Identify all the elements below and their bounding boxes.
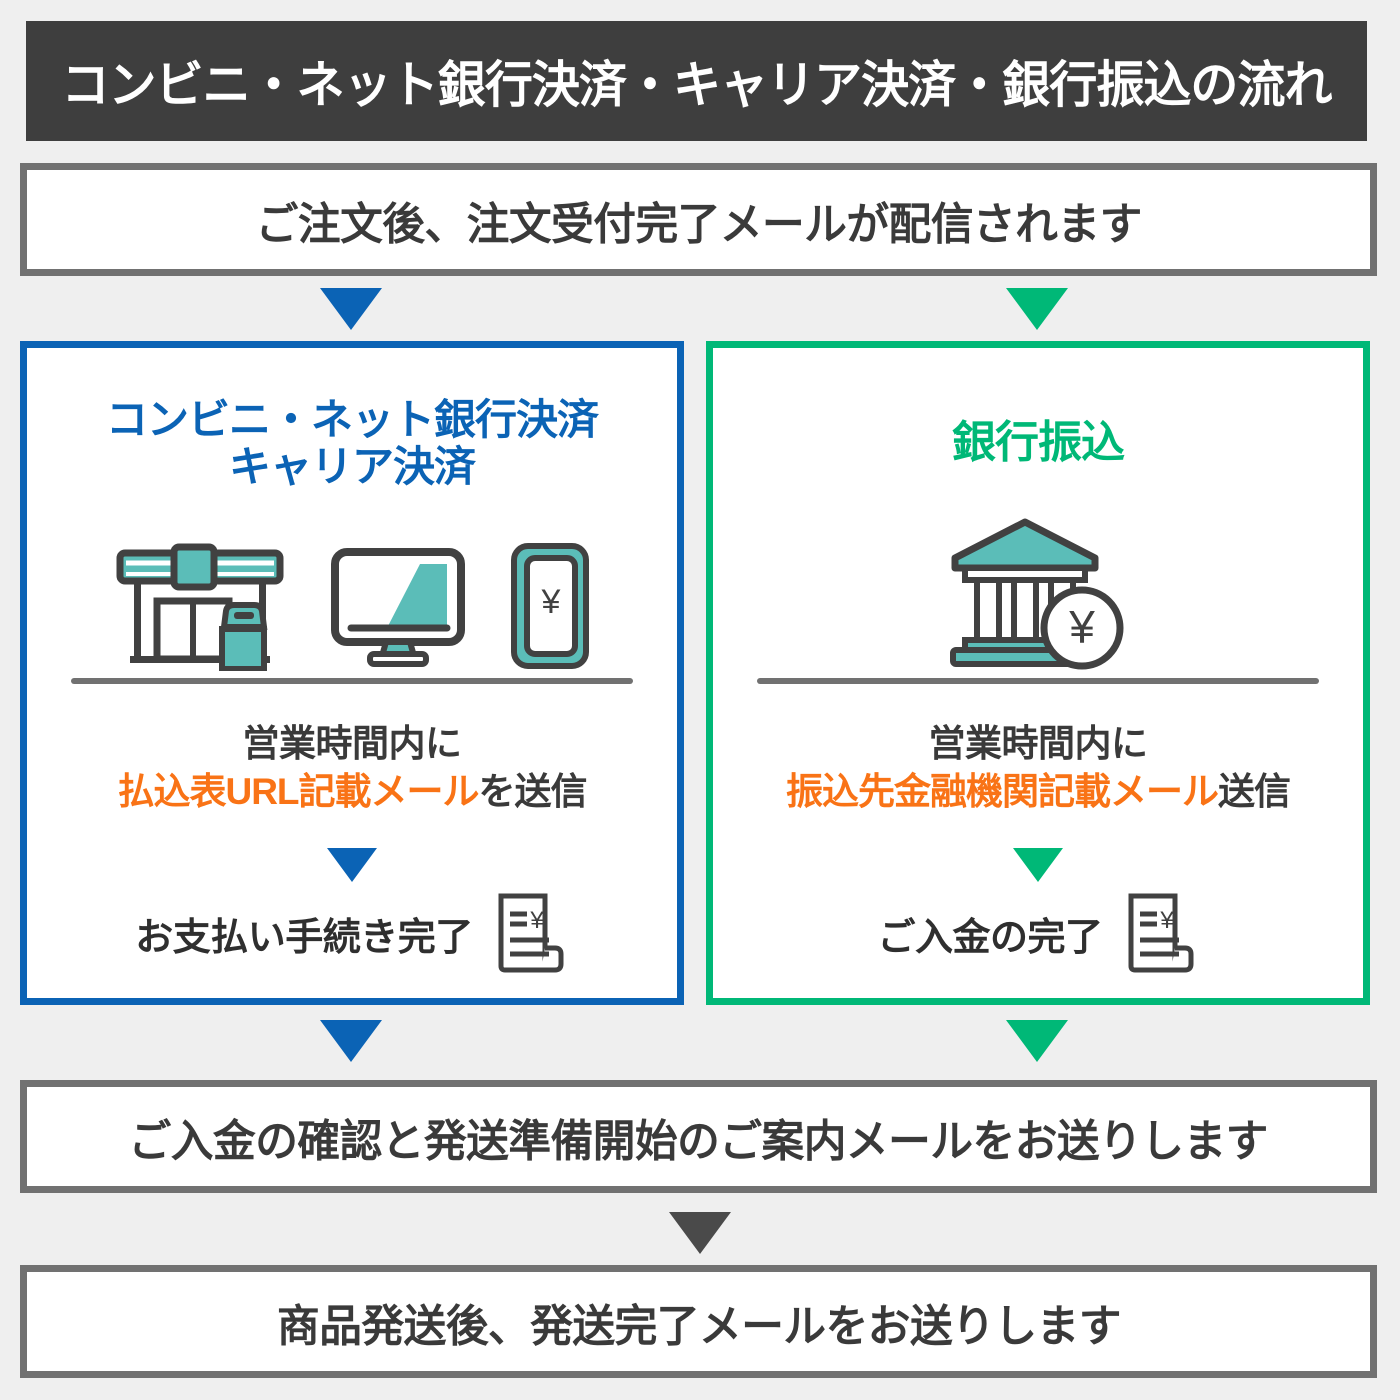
panel-bank-title-line1: 銀行振込 — [952, 418, 1124, 467]
panel-bank-note-line1: 営業時間内に — [713, 720, 1363, 768]
panel-convenience-note-line2: 払込表URL記載メールを送信 — [27, 768, 677, 816]
panel-bank-transfer: 銀行振込 ¥ — [706, 341, 1370, 1005]
smartphone-yen-icon: ¥ — [508, 541, 592, 671]
diagram-header-banner: コンビニ・ネット銀行決済・キャリア決済・銀行振込の流れ — [26, 21, 1367, 141]
receipt-yen-icon: ¥ — [487, 890, 569, 976]
panel-convenience-title-line2: キャリア決済 — [229, 443, 475, 490]
panel-bank-final-text: ご入金の完了 — [877, 906, 1102, 961]
step-confirm-text: ご入金の確認と発送準備開始のご案内メールをお送りします — [129, 1105, 1268, 1169]
panel-bank-final-row: ご入金の完了 ¥ — [713, 890, 1363, 976]
svg-text:¥: ¥ — [1159, 907, 1174, 934]
panel-bank-note-line2: 振込先金融機関記載メール送信 — [713, 768, 1363, 816]
panel-convenience-final-row: お支払い手続き完了 ¥ — [27, 890, 677, 976]
arrow-down-from-convenience-panel — [320, 1020, 382, 1062]
receipt-yen-icon: ¥ — [1117, 890, 1199, 976]
desktop-monitor-icon — [328, 544, 468, 668]
svg-text:¥: ¥ — [1068, 601, 1095, 653]
panel-bank-note-suffix: 送信 — [1218, 771, 1290, 812]
arrow-down-bank-to-complete — [1013, 848, 1063, 882]
step-box-order-received: ご注文後、注文受付完了メールが配信されます — [20, 163, 1377, 276]
panel-convenience-icon-row: ¥ — [27, 538, 677, 673]
panel-convenience-note-highlight: 払込表URL記載メール — [117, 771, 478, 812]
arrow-down-to-shipped-step — [669, 1212, 731, 1254]
panel-bank-note-highlight: 振込先金融機関記載メール — [786, 771, 1218, 812]
panel-bank-note: 営業時間内に 振込先金融機関記載メール送信 — [713, 720, 1363, 816]
arrow-down-convenience-to-complete — [327, 848, 377, 882]
panel-convenience-title: コンビニ・ネット銀行決済 キャリア決済 — [27, 396, 677, 490]
arrow-down-to-bank-panel — [1006, 288, 1068, 330]
arrow-down-from-bank-panel — [1006, 1020, 1068, 1062]
arrow-down-to-convenience-panel — [320, 288, 382, 330]
panel-convenience-note-line1: 営業時間内に — [27, 720, 677, 768]
panel-convenience-note: 営業時間内に 払込表URL記載メールを送信 — [27, 720, 677, 816]
panel-convenience-title-line1: コンビニ・ネット銀行決済 — [106, 396, 598, 443]
diagram-title: コンビニ・ネット銀行決済・キャリア決済・銀行振込の流れ — [61, 45, 1331, 117]
panel-bank-title: 銀行振込 — [713, 418, 1363, 467]
convenience-store-icon — [112, 541, 288, 671]
bank-building-yen-icon: ¥ — [943, 516, 1133, 676]
svg-text:¥: ¥ — [541, 583, 561, 621]
panel-bank-divider — [757, 678, 1319, 684]
step-order-text: ご注文後、注文受付完了メールが配信されます — [255, 188, 1141, 252]
step-shipped-text: 商品発送後、発送完了メールをお送りします — [277, 1290, 1121, 1354]
panel-convenience-payment: コンビニ・ネット銀行決済 キャリア決済 — [20, 341, 684, 1005]
panel-convenience-divider — [71, 678, 633, 684]
svg-text:¥: ¥ — [529, 907, 544, 934]
payment-flow-diagram: コンビニ・ネット銀行決済・キャリア決済・銀行振込の流れ ご注文後、注文受付完了メ… — [0, 0, 1400, 1400]
step-box-shipping-complete: 商品発送後、発送完了メールをお送りします — [20, 1265, 1377, 1378]
panel-bank-icon-row: ¥ — [713, 513, 1363, 678]
step-box-payment-confirmed: ご入金の確認と発送準備開始のご案内メールをお送りします — [20, 1080, 1377, 1193]
panel-convenience-final-text: お支払い手続き完了 — [135, 906, 473, 961]
panel-convenience-note-suffix: を送信 — [479, 771, 587, 812]
